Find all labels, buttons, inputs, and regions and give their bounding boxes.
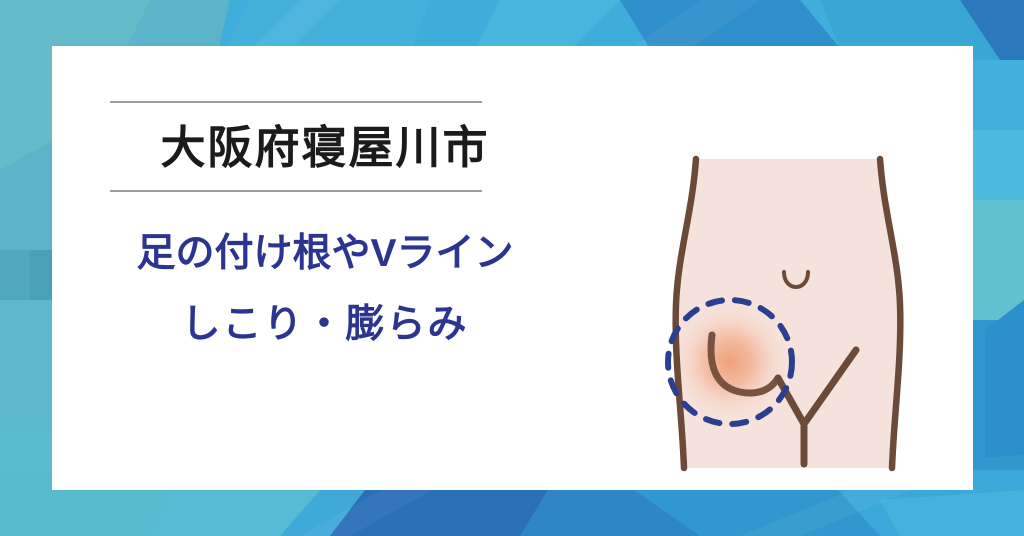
abdomen-illustration-svg [638,104,978,484]
title-rule-bottom [110,190,482,192]
lower-abdomen-groin-diagram [638,104,978,484]
page-title: 大阪府寝屋川市 [110,103,540,190]
promo-banner: 大阪府寝屋川市 足の付け根やVライン しこり・膨らみ [0,0,1024,536]
content-card: 大阪府寝屋川市 足の付け根やVライン しこり・膨らみ [52,46,973,490]
subtitle-line-2: しこり・膨らみ [110,297,540,354]
subtitle-line-1: 足の付け根やVライン [110,226,540,283]
subtitle: 足の付け根やVライン しこり・膨らみ [110,226,540,353]
text-block: 大阪府寝屋川市 足の付け根やVライン しこり・膨らみ [110,101,540,353]
